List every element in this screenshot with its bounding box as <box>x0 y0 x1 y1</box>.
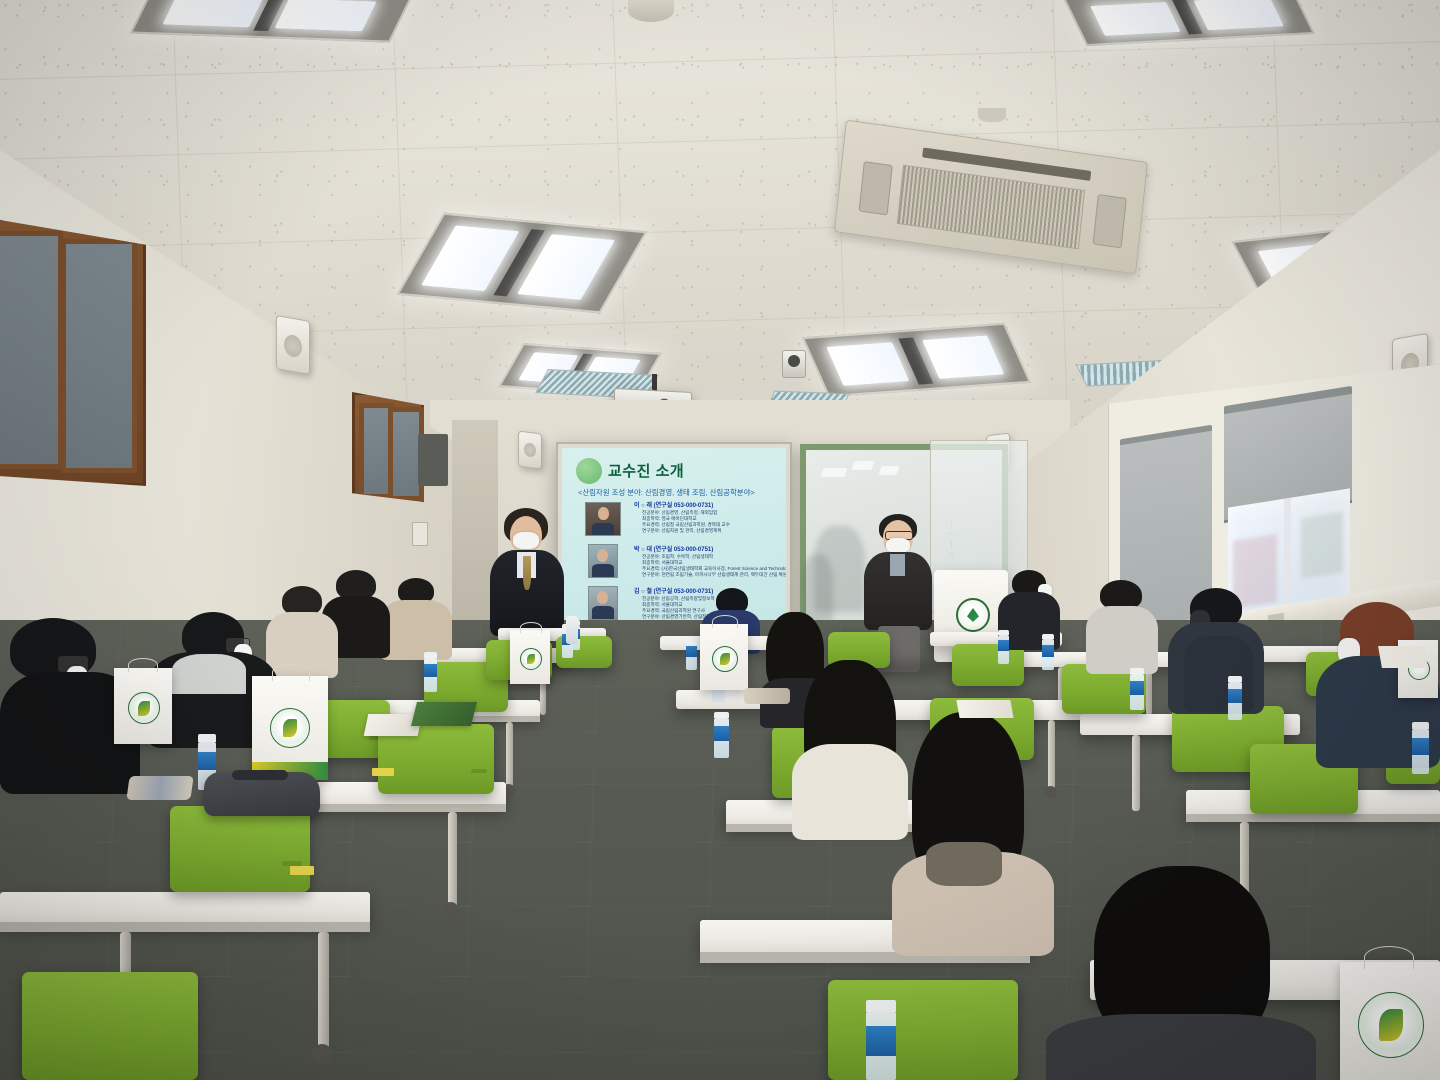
chair <box>952 644 1024 686</box>
desk-edge <box>0 922 370 932</box>
desk-leg <box>318 932 329 1052</box>
water-bottle <box>714 712 729 758</box>
face-mask <box>513 532 539 549</box>
chair <box>828 980 1018 1080</box>
desk-leg <box>1132 735 1140 811</box>
desk-leg <box>1146 667 1152 715</box>
faculty-photo <box>588 586 618 620</box>
snack-pack <box>744 688 790 704</box>
water-bottle <box>1130 668 1144 710</box>
desk-caster <box>442 902 459 919</box>
student <box>1184 636 1254 710</box>
necktie <box>523 556 531 590</box>
slide-title: 교수진 소개 <box>608 460 684 481</box>
university-emblem <box>128 692 160 724</box>
student <box>1086 580 1158 672</box>
tote-bag <box>1340 962 1440 1080</box>
torso <box>380 600 452 660</box>
tote-bag <box>252 676 328 780</box>
desk <box>0 892 370 926</box>
tote-bag <box>510 630 550 684</box>
security-camera <box>782 350 806 378</box>
desk-leg <box>448 812 457 908</box>
water-bottle <box>1228 676 1242 720</box>
slide-subtitle: <산림자원 조성 분야: 산림경영, 생태 조림, 산림공학분야> <box>578 487 755 498</box>
faculty-name: 박 ○ 대 (연구실 053-000-0751) <box>634 544 713 553</box>
desk-caster <box>312 1044 332 1064</box>
water-bottle <box>866 1000 896 1080</box>
ceiling-sensor <box>978 108 1006 122</box>
handout-booklet <box>411 702 477 726</box>
backpack-strap <box>232 770 288 780</box>
ceiling-speaker <box>628 0 674 22</box>
interior-window <box>0 218 146 486</box>
chair-label <box>290 866 314 875</box>
student <box>1046 866 1316 1080</box>
torso <box>1086 606 1158 674</box>
chair <box>22 972 198 1080</box>
torso <box>792 744 908 840</box>
chair-label <box>372 768 394 776</box>
handout-booklet <box>956 700 1013 718</box>
tote-bag <box>700 624 748 690</box>
tote-bag <box>114 668 172 744</box>
hand-sanitizer <box>566 616 578 644</box>
intercom-panel <box>412 522 428 546</box>
faculty-detail: 연구분야: 산림자원 및 관리, 산림경영계획 <box>642 528 722 534</box>
water-bottle <box>998 630 1009 664</box>
chair <box>170 806 310 892</box>
handout-booklet <box>1378 646 1428 668</box>
university-emblem <box>520 648 542 670</box>
torso <box>1184 636 1254 712</box>
university-emblem <box>1358 992 1424 1058</box>
snack-pack <box>126 776 193 800</box>
classroom-photo: 교수진 소개 <산림자원 조성 분야: 산림경영, 생태 조림, 산림공학분야>… <box>0 0 1440 1080</box>
student <box>892 712 1054 942</box>
interior-window <box>352 392 424 502</box>
slide-bullet-logo <box>576 458 602 484</box>
wall-speaker <box>276 315 310 375</box>
faculty-detail: 연구분야: 천연림 조림기술, 아까시나무 산림생태계 관리, 백두대간 산림 … <box>642 572 786 578</box>
water-bottle <box>424 652 437 692</box>
student <box>380 578 452 658</box>
faculty-photo <box>585 502 621 536</box>
water-bottle <box>1412 722 1429 774</box>
university-emblem <box>270 708 310 748</box>
faculty-name: 이 ○ 래 (연구실 053-000-0731) <box>634 500 713 509</box>
water-bottle <box>1042 634 1054 670</box>
face-mask <box>886 538 910 553</box>
university-emblem <box>712 646 738 672</box>
torso <box>1046 1014 1316 1080</box>
desk-edge <box>1186 814 1440 822</box>
university-emblem <box>956 598 990 632</box>
wall-speaker <box>518 431 542 470</box>
water-bottle <box>686 636 697 670</box>
faculty-photo <box>588 544 618 578</box>
wall-panel <box>418 434 448 486</box>
desk-leg <box>506 722 513 788</box>
shirt <box>890 554 905 576</box>
